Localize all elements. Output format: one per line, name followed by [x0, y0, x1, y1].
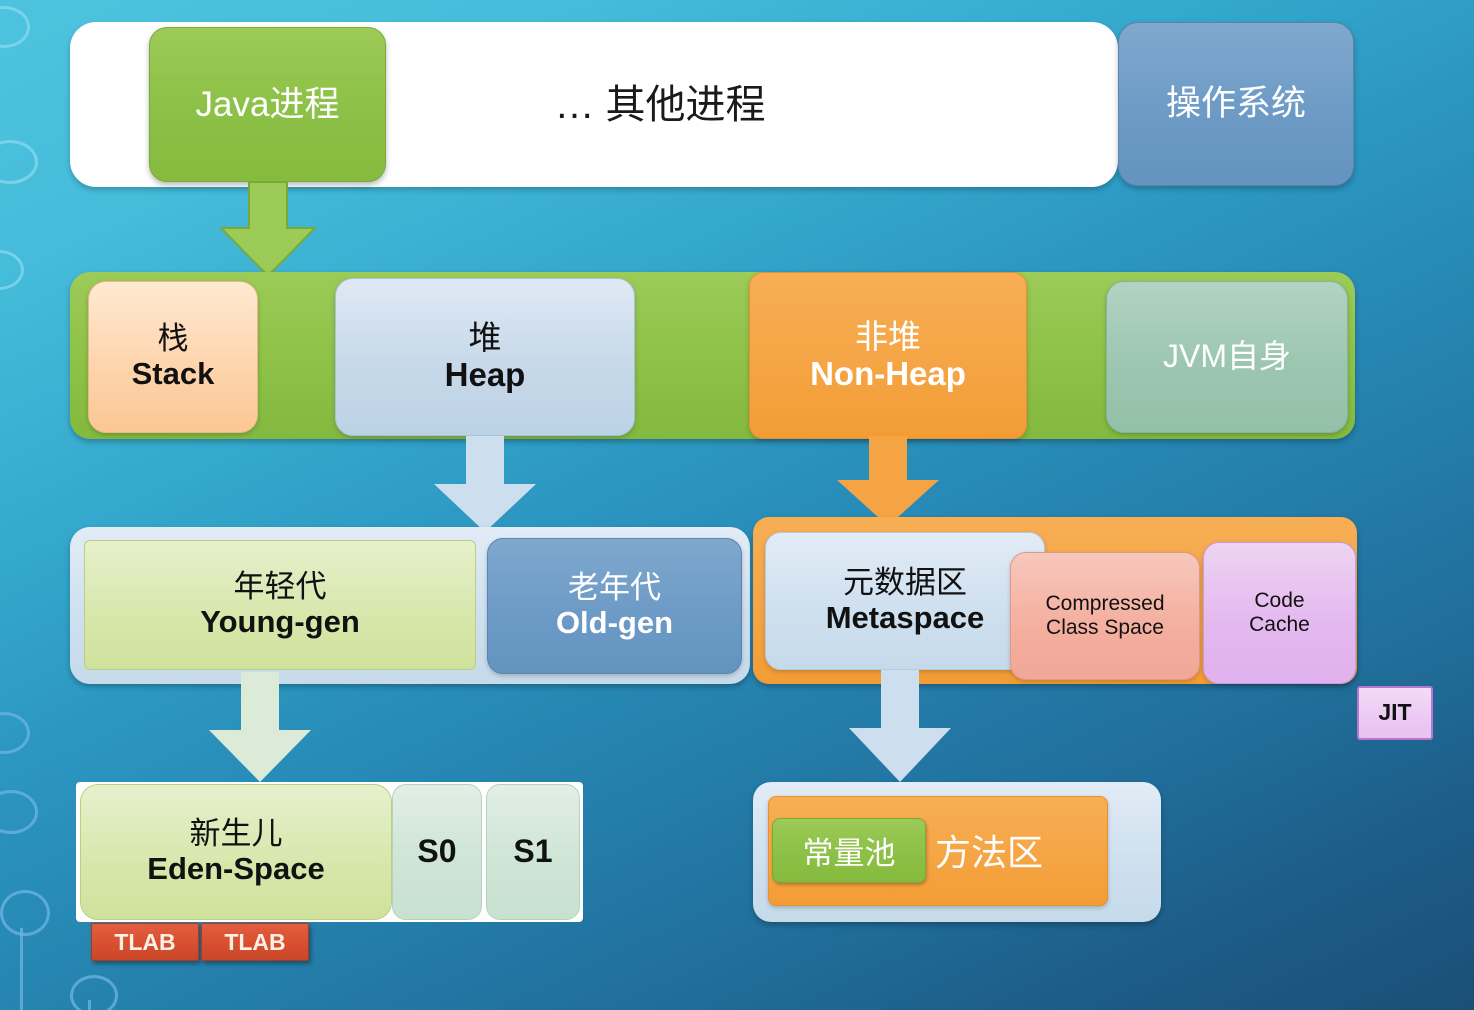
- arrow-non-heap-to-detail-icon: [833, 436, 943, 528]
- decorative-pin-stem-icon: [88, 1000, 91, 1010]
- metaspace-label-cn: 元数据区: [843, 566, 967, 601]
- survivor-0-label: S0: [417, 834, 456, 870]
- compressed-class-space-label-line2: Class Space: [1046, 616, 1164, 640]
- eden-space-box[interactable]: 新生儿 Eden-Space: [80, 784, 392, 920]
- arrow-metaspace-to-method-area-icon: [845, 670, 955, 784]
- other-process-label-box: … 其他进程: [420, 50, 900, 160]
- survivor-1-label: S1: [513, 834, 552, 870]
- decorative-bubble-icon: [0, 250, 24, 290]
- decorative-bubble-icon: [0, 790, 38, 834]
- stack-box[interactable]: 栈 Stack: [88, 281, 258, 433]
- heap-label-cn: 堆: [469, 320, 502, 357]
- compressed-class-space-label-line1: Compressed: [1045, 592, 1164, 616]
- survivor-1-box[interactable]: S1: [486, 784, 580, 920]
- old-gen-box[interactable]: 老年代 Old-gen: [487, 538, 742, 674]
- operating-system-box[interactable]: 操作系统: [1118, 22, 1354, 186]
- heap-label-en: Heap: [445, 357, 526, 394]
- jvm-memory-diagram-slide: Java进程 … 其他进程 操作系统 栈 Stack 堆 Heap 非堆 Non…: [0, 0, 1474, 1010]
- jit-badge[interactable]: JIT: [1357, 686, 1433, 740]
- stack-label-en: Stack: [132, 357, 215, 392]
- non-heap-label-en: Non-Heap: [810, 356, 966, 393]
- eden-label-en: Eden-Space: [147, 852, 324, 887]
- java-process-box[interactable]: Java进程: [149, 27, 386, 182]
- tlab-badge-2[interactable]: TLAB: [201, 923, 309, 961]
- java-process-label: Java进程: [196, 85, 340, 124]
- constant-pool-box[interactable]: 常量池: [772, 818, 926, 883]
- old-gen-label-en: Old-gen: [556, 606, 673, 641]
- stack-label-cn: 栈: [158, 322, 189, 357]
- tlab-badge-1[interactable]: TLAB: [91, 923, 199, 961]
- arrow-young-gen-to-eden-icon: [205, 672, 315, 784]
- young-gen-label-cn: 年轻代: [234, 570, 327, 605]
- jit-label: JIT: [1378, 700, 1411, 726]
- decorative-pin-icon: [0, 890, 50, 936]
- constant-pool-label: 常量池: [803, 828, 896, 873]
- young-gen-box[interactable]: 年轻代 Young-gen: [84, 540, 476, 670]
- decorative-bubble-icon: [0, 140, 38, 184]
- metaspace-box[interactable]: 元数据区 Metaspace: [765, 532, 1045, 670]
- metaspace-label-en: Metaspace: [826, 601, 985, 636]
- code-cache-label-line2: Cache: [1249, 613, 1310, 637]
- decorative-pin-icon: [70, 975, 118, 1010]
- non-heap-label-cn: 非堆: [855, 319, 921, 356]
- arrow-heap-to-heap-detail-icon: [430, 436, 540, 534]
- method-area-label-wrapper: 方法区: [935, 818, 1095, 881]
- tlab-label-2: TLAB: [224, 929, 285, 956]
- method-area-label: 方法区: [935, 824, 1043, 876]
- jvm-self-box[interactable]: JVM自身: [1106, 281, 1348, 433]
- tlab-label-1: TLAB: [114, 929, 175, 956]
- heap-box[interactable]: 堆 Heap: [335, 278, 635, 436]
- decorative-bubble-icon: [0, 6, 30, 48]
- compressed-class-space-box[interactable]: Compressed Class Space: [1010, 552, 1200, 680]
- old-gen-label-cn: 老年代: [568, 571, 661, 606]
- eden-label-cn: 新生儿: [190, 817, 283, 852]
- operating-system-label: 操作系统: [1166, 84, 1306, 123]
- decorative-pin-stem-icon: [20, 928, 23, 1010]
- survivor-0-box[interactable]: S0: [392, 784, 482, 920]
- code-cache-label-line1: Code: [1254, 589, 1304, 613]
- other-process-label: … 其他进程: [554, 83, 765, 128]
- code-cache-box[interactable]: Code Cache: [1203, 542, 1356, 684]
- young-gen-label-en: Young-gen: [200, 605, 360, 640]
- decorative-bubble-icon: [0, 712, 30, 754]
- jvm-self-label: JVM自身: [1163, 339, 1291, 375]
- arrow-java-process-to-memory-icon: [216, 182, 320, 278]
- non-heap-box[interactable]: 非堆 Non-Heap: [749, 272, 1027, 439]
